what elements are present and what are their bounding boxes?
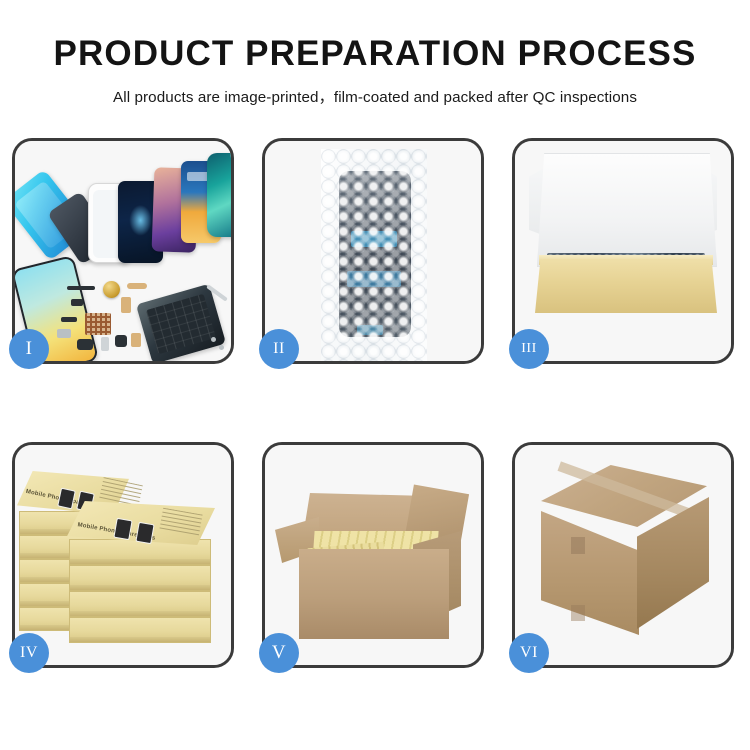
page-title: PRODUCT PREPARATION PROCESS bbox=[0, 36, 750, 73]
retail-box-front-4 bbox=[69, 617, 211, 643]
mailer-box-lid bbox=[537, 153, 717, 267]
mailer-box-body bbox=[535, 259, 717, 313]
spare-part-bracket-1 bbox=[57, 329, 71, 338]
phone-open-chassis bbox=[136, 284, 226, 361]
spare-part-flex-cable-2 bbox=[121, 297, 131, 313]
step-badge-6: VI bbox=[509, 633, 549, 673]
sealed-carton-left-panel bbox=[541, 511, 639, 635]
spare-part-battery-connector bbox=[131, 333, 141, 347]
spare-part-connector-1 bbox=[71, 299, 83, 306]
process-step-panel-3[interactable]: III bbox=[512, 138, 734, 364]
taptic-coil-part bbox=[103, 281, 120, 298]
spare-part-screw-1 bbox=[211, 337, 216, 342]
step-badge-2: II bbox=[259, 329, 299, 369]
process-step-panel-6[interactable]: VI bbox=[512, 442, 734, 668]
step-badge-3: III bbox=[509, 329, 549, 369]
process-steps-grid: I II III bbox=[12, 138, 738, 668]
step-badge-1: I bbox=[9, 329, 49, 369]
step-3-image bbox=[515, 141, 731, 361]
step-badge-4: IV bbox=[9, 633, 49, 673]
spare-part-speaker bbox=[77, 339, 93, 350]
step-1-image bbox=[15, 141, 231, 361]
page-subtitle: All products are image-printed，film-coat… bbox=[0, 85, 750, 107]
spare-part-camera-module bbox=[115, 335, 127, 347]
retail-box-screen-image-front-2 bbox=[135, 522, 154, 544]
spare-part-strip-1 bbox=[67, 286, 95, 290]
phone-parts-scene bbox=[15, 141, 231, 361]
bubble-wrap-bag bbox=[321, 149, 427, 361]
carton-front-panel bbox=[299, 549, 449, 639]
step-badge-5: V bbox=[259, 633, 299, 673]
spare-part-connector-2 bbox=[61, 317, 77, 322]
spare-part-screw-2 bbox=[219, 345, 224, 350]
step-5-image bbox=[265, 445, 481, 665]
retail-box-front-3 bbox=[69, 591, 211, 617]
step-6-image bbox=[515, 445, 731, 665]
process-step-panel-4[interactable]: Mobile Phone Spare Parts Mobile Phone Sp… bbox=[12, 442, 234, 668]
step-4-image: Mobile Phone Spare Parts Mobile Phone Sp… bbox=[15, 445, 231, 665]
spare-part-sim-tray bbox=[101, 337, 109, 351]
carton-handle-tab-top bbox=[571, 537, 585, 554]
step-2-image bbox=[265, 141, 481, 361]
spare-part-flex-cable-1 bbox=[127, 283, 147, 289]
process-step-panel-1[interactable]: I bbox=[12, 138, 234, 364]
retail-box-front-2 bbox=[69, 565, 211, 591]
process-step-panel-2[interactable]: II bbox=[262, 138, 484, 364]
carton-handle-tab-bottom bbox=[571, 605, 585, 621]
retail-box-stack: Mobile Phone Spare Parts Mobile Phone Sp… bbox=[15, 445, 231, 665]
page-header: PRODUCT PREPARATION PROCESS All products… bbox=[0, 0, 750, 107]
process-step-panel-5[interactable]: V bbox=[262, 442, 484, 668]
bubble-texture-layer-offset bbox=[321, 149, 427, 361]
retail-box-screen-image-front-1 bbox=[113, 518, 132, 540]
phone-teal-curved bbox=[207, 153, 231, 237]
copper-pad-array-part bbox=[85, 313, 111, 335]
